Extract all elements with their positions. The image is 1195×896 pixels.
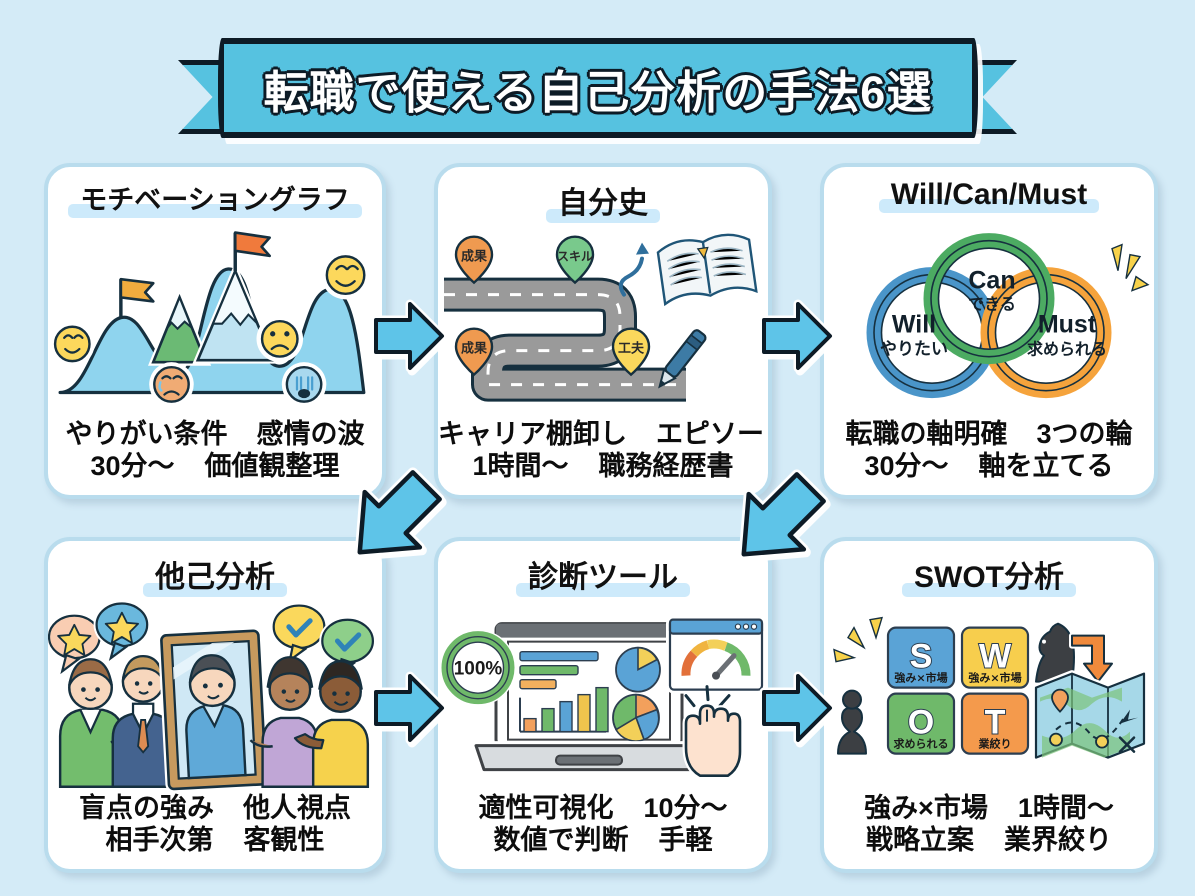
- card-diagnostic-tool[interactable]: 診断ツール: [434, 537, 772, 873]
- arrow-card3-to-card5: [712, 458, 842, 584]
- svg-text:強み×市場: 強み×市場: [968, 671, 1021, 685]
- footer-line-2: 30分〜 軸を立てる: [824, 451, 1154, 483]
- arrow-card4-to-card5: [372, 668, 446, 748]
- card-personal-history[interactable]: 自分史 成果 スキル 成果: [434, 163, 772, 499]
- svg-text:Must: Must: [1038, 311, 1097, 339]
- footer-line-1: やりがい条件 感情の波: [48, 419, 382, 451]
- footer-cell: エピソード: [656, 419, 772, 451]
- svg-text:やりたい: やりたい: [880, 340, 948, 360]
- footer-cell: 30分〜: [90, 451, 174, 483]
- will-can-must-illustration: Will やりたい Can できる Must 求められる: [824, 214, 1154, 419]
- footer-cell: 価値観整理: [205, 451, 340, 483]
- footer-cell: 戦略立案: [866, 825, 974, 857]
- card-title: 自分史: [550, 178, 656, 224]
- svg-text:Can: Can: [968, 267, 1015, 295]
- arrow-card1-to-card2: [372, 296, 446, 376]
- svg-text:O: O: [908, 704, 934, 742]
- footer-cell: やりがい条件: [65, 419, 227, 451]
- svg-text:強み×市場: 強み×市場: [894, 671, 947, 685]
- svg-text:求められる: 求められる: [894, 737, 949, 751]
- card-footer: 転職の軸明確 3つの輪 30分〜 軸を立てる: [824, 419, 1154, 495]
- svg-text:W: W: [979, 638, 1012, 676]
- footer-cell: 1時間〜: [1018, 793, 1114, 825]
- card-footer: 強み×市場 1時間〜 戦略立案 業界絞り: [824, 793, 1154, 869]
- footer-cell: 3つの輪: [1037, 419, 1133, 451]
- arrow-card2-to-card3: [760, 296, 834, 376]
- footer-cell: 業界絞り: [1004, 825, 1112, 857]
- card-swot-analysis[interactable]: SWOT分析 S W O T 強み×市場 強み×市場 求め: [820, 537, 1158, 873]
- card-footer: 適性可視化 10分〜 数値で判断 手軽: [438, 793, 768, 869]
- card-others-analysis[interactable]: 他己分析: [44, 537, 386, 873]
- footer-line-1: 適性可視化 10分〜: [438, 793, 768, 825]
- svg-text:求められる: 求められる: [1027, 340, 1107, 359]
- ribbon-body: 転職で使える自己分析の手法6選: [218, 38, 978, 138]
- personal-history-illustration: 成果 スキル 成果 工夫: [438, 224, 768, 419]
- footer-cell: 10分〜: [644, 793, 728, 825]
- footer-cell: 手軽: [659, 825, 713, 857]
- card-footer: 盲点の強み 他人視点 相手次第 客観性: [48, 793, 382, 869]
- footer-cell: 強み×市場: [864, 793, 988, 825]
- footer-cell: 転職の軸明確: [845, 419, 1007, 451]
- footer-line-2: 数値で判断 手軽: [438, 825, 768, 857]
- swot-analysis-illustration: S W O T 強み×市場 強み×市場 求められる 業絞り: [824, 598, 1154, 793]
- card-title: 診断ツール: [520, 552, 686, 598]
- svg-text:スキル: スキル: [557, 250, 593, 264]
- footer-line-2: 戦略立案 業界絞り: [824, 825, 1154, 857]
- svg-text:成果: 成果: [461, 341, 487, 357]
- svg-text:成果: 成果: [461, 249, 487, 265]
- footer-cell: 適性可視化: [478, 793, 613, 825]
- card-title: 他己分析: [147, 552, 283, 598]
- footer-line-1: 強み×市場 1時間〜: [824, 793, 1154, 825]
- footer-cell: 感情の波: [257, 419, 365, 451]
- card-title: モチベーショングラフ: [72, 178, 357, 219]
- page-title: 転職で使える自己分析の手法6選: [264, 56, 933, 121]
- footer-cell: 相手次第: [105, 825, 213, 857]
- card-title: Will/Can/Must: [883, 178, 1095, 214]
- svg-text:工夫: 工夫: [618, 341, 645, 357]
- footer-line-1: キャリア棚卸し エピソード: [438, 419, 768, 451]
- header-banner: 転職で使える自己分析の手法6選: [0, 24, 1195, 144]
- footer-cell: 軸を立てる: [979, 451, 1114, 483]
- svg-text:T: T: [985, 704, 1006, 742]
- footer-line-1: 盲点の強み 他人視点: [48, 793, 382, 825]
- svg-text:できる: できる: [968, 295, 1016, 314]
- diagnostic-tool-illustration: 100%: [438, 598, 768, 793]
- gauge-percent-label: 100%: [454, 659, 503, 680]
- footer-cell: 客観性: [244, 825, 325, 857]
- others-analysis-illustration: [48, 598, 382, 793]
- arrow-card2-to-card4: [328, 458, 458, 580]
- footer-cell: 盲点の強み: [79, 793, 214, 825]
- footer-line-2: 相手次第 客観性: [48, 825, 382, 857]
- card-will-can-must[interactable]: Will/Can/Must Will やりたい Can できる Must: [820, 163, 1158, 499]
- svg-text:業絞り: 業絞り: [978, 737, 1012, 751]
- footer-line-1: 転職の軸明確 3つの輪: [824, 419, 1154, 451]
- footer-cell: キャリア棚卸し: [438, 419, 627, 451]
- footer-cell: 他人視点: [243, 793, 351, 825]
- svg-text:S: S: [910, 638, 933, 676]
- card-motivation-graph[interactable]: モチベーショングラフ: [44, 163, 386, 499]
- motivation-graph-illustration: [48, 219, 382, 419]
- arrow-card5-to-card6: [760, 668, 834, 748]
- svg-text:Will: Will: [892, 311, 936, 339]
- footer-cell: 30分〜: [864, 451, 948, 483]
- card-title: SWOT分析: [906, 552, 1072, 598]
- footer-cell: 数値で判断: [493, 825, 628, 857]
- footer-cell: 1時間〜: [472, 451, 568, 483]
